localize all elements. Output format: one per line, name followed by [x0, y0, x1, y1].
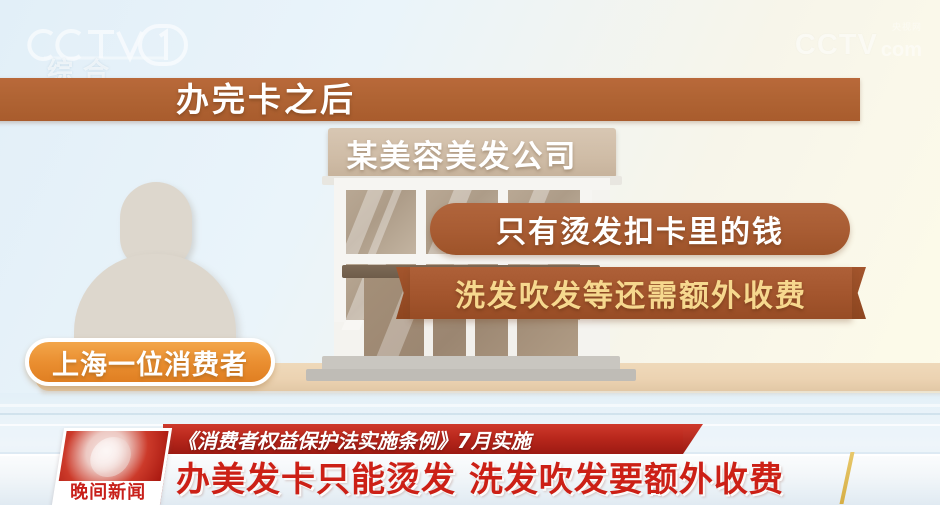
- top-context-banner: [0, 78, 860, 121]
- globe-icon: [59, 431, 169, 481]
- ground-line: [0, 404, 940, 407]
- speaker-label-text: 上海一位消费者: [52, 343, 248, 382]
- quote-ribbon-secondary-text: 洗发吹发等还需额外收费: [455, 271, 807, 315]
- lower-third-kicker-bar: 《消费者权益保护法实施条例》7月实施: [163, 424, 683, 454]
- window-mullion: [334, 254, 610, 264]
- ground-line: [0, 413, 940, 415]
- cctv-com-watermark: 央视网 CCTV com: [795, 20, 922, 62]
- window-mullion: [334, 178, 610, 190]
- speaker-label-pill: 上海一位消费者: [25, 338, 275, 386]
- quote-ribbon-secondary: 洗发吹发等还需额外收费: [396, 267, 866, 319]
- broadcast-frame: 综合 央视网 CCTV com 办完卡之后 某美容美发公司: [0, 0, 940, 505]
- program-logo-name: 晚间新闻: [52, 479, 164, 503]
- watermark-domain: com: [881, 39, 922, 62]
- program-logo: 晚间新闻: [52, 428, 172, 505]
- watermark-main: CCTV: [795, 29, 878, 62]
- lower-third-headline-text: 办美发卡只能烫发 洗发吹发要额外收费: [176, 456, 784, 504]
- window-pane: [344, 190, 416, 254]
- quote-bubble-primary: 只有烫发扣卡里的钱: [430, 203, 850, 255]
- quote-bubble-primary-text: 只有烫发扣卡里的钱: [496, 207, 784, 251]
- quote-ribbon-body: 洗发吹发等还需额外收费: [410, 267, 852, 319]
- building-base: [306, 369, 636, 381]
- ribbon-tip-right-icon: [850, 267, 866, 319]
- shop-sign-label: 某美容美发公司: [318, 128, 606, 178]
- program-name-text: 晚间新闻: [70, 478, 146, 504]
- top-context-banner-label: 办完卡之后: [176, 80, 356, 120]
- lower-third-kicker-text: 《消费者权益保护法实施条例》7月实施: [177, 425, 531, 454]
